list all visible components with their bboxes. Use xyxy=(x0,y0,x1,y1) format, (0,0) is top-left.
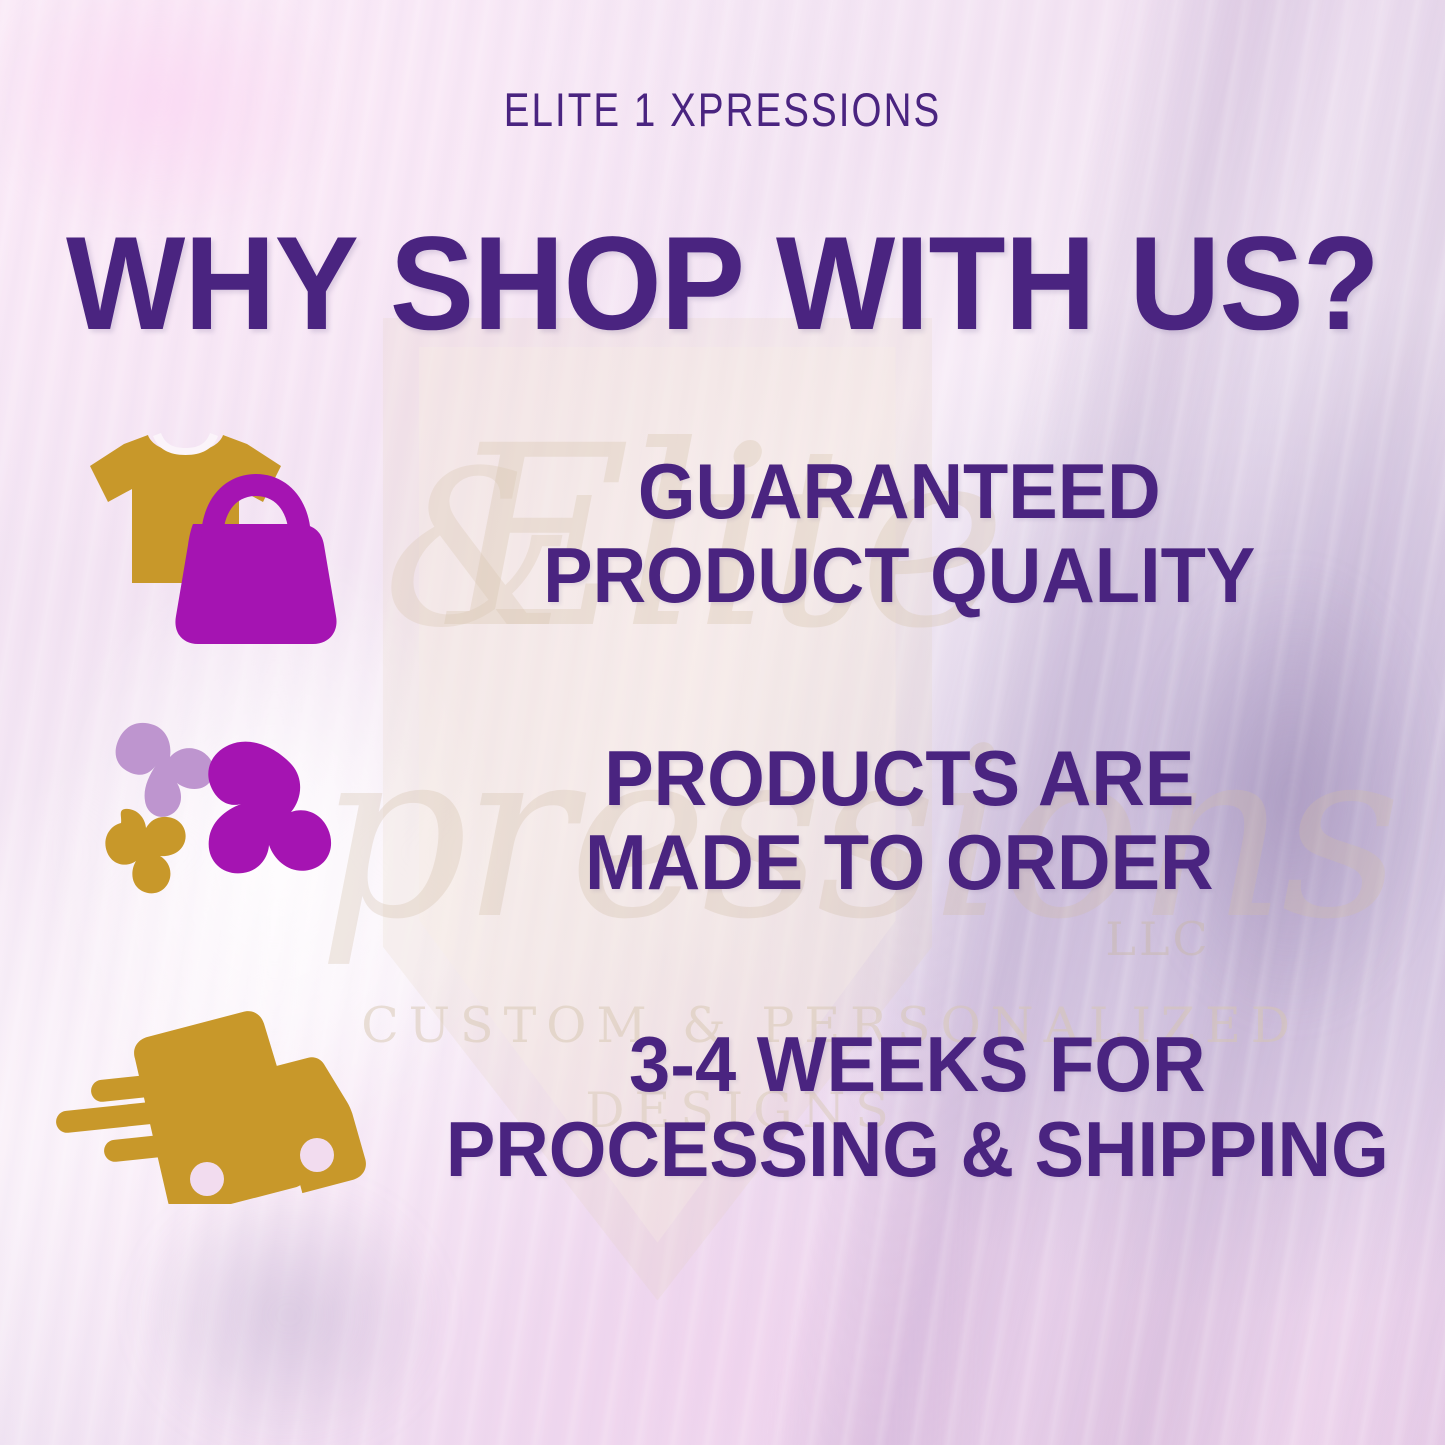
promo-graphic: & Elite pressions LLC CUSTOM & PERSONALI… xyxy=(0,0,1445,1445)
brand-name: ELITE 1 XPRESSIONS xyxy=(130,82,1315,137)
feature-list: GUARANTEED PRODUCT QUALITY xyxy=(0,390,1445,1250)
paint-splat-icon xyxy=(85,713,335,928)
content-layer: ELITE 1 XPRESSIONS WHY SHOP WITH US? xyxy=(0,0,1445,1445)
feature-icon-wrapper xyxy=(0,713,420,928)
tshirt-and-handbag-icon xyxy=(80,418,340,648)
feature-text-made-to-order: PRODUCTS ARE MADE TO ORDER xyxy=(446,736,1420,904)
feature-line-1: PRODUCTS ARE xyxy=(446,736,1353,820)
feature-item-made-to-order: PRODUCTS ARE MADE TO ORDER xyxy=(0,677,1445,964)
feature-line-1: GUARANTEED xyxy=(446,449,1353,533)
feature-item-shipping: 3-4 WEEKS FOR PROCESSING & SHIPPING xyxy=(0,963,1445,1250)
feature-line-2: PRODUCT QUALITY xyxy=(446,533,1353,617)
feature-item-quality: GUARANTEED PRODUCT QUALITY xyxy=(0,390,1445,677)
feature-line-2: MADE TO ORDER xyxy=(446,820,1353,904)
feature-text-shipping: 3-4 WEEKS FOR PROCESSING & SHIPPING xyxy=(446,1022,1427,1190)
page-title: WHY SHOP WITH US? xyxy=(36,208,1409,360)
feature-icon-wrapper xyxy=(0,418,420,648)
feature-text-quality: GUARANTEED PRODUCT QUALITY xyxy=(446,449,1420,617)
delivery-truck-icon xyxy=(45,1009,375,1204)
feature-line-1: 3-4 WEEKS FOR xyxy=(446,1022,1389,1106)
feature-line-2: PROCESSING & SHIPPING xyxy=(446,1107,1389,1191)
feature-icon-wrapper xyxy=(0,1009,420,1204)
